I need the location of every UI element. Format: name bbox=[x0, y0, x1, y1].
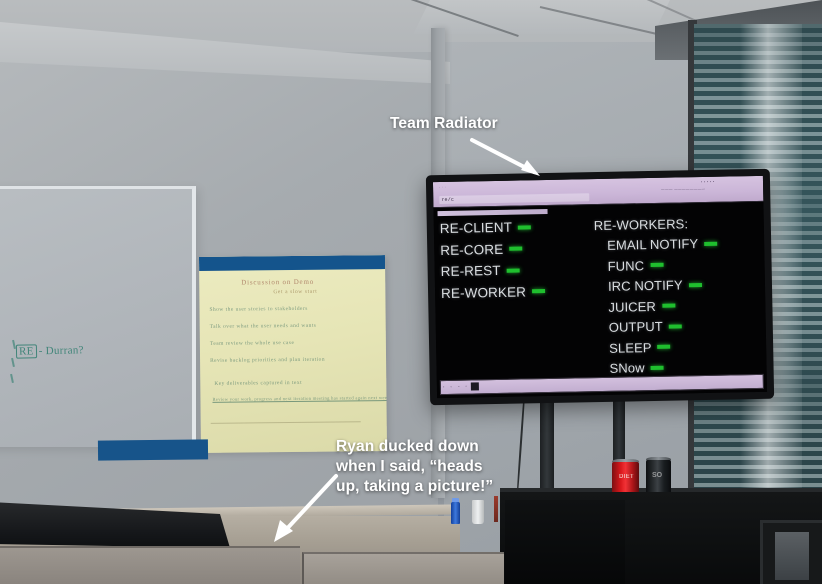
status-led-green bbox=[669, 324, 682, 328]
office-photo-scene: RE- Durran? Discussion on Demo Get a slo… bbox=[0, 0, 822, 584]
annotation-arrow-down-right bbox=[468, 136, 558, 184]
poster-bullet: Key deliverables captured in text bbox=[214, 380, 302, 387]
service-columns: RE-CLIENTRE-CORERE-RESTRE-WORKER RE-WORK… bbox=[434, 215, 767, 385]
service-status-row: OUTPUT bbox=[596, 317, 766, 335]
service-status-row: RE-WORKER bbox=[441, 283, 591, 301]
service-name: RE-WORKER bbox=[441, 284, 526, 301]
monitor-screen: · · · • • • • • ——— ———————— re/c RE-CLI… bbox=[433, 176, 767, 398]
status-led-green bbox=[689, 283, 702, 287]
service-group-heading: RE-WORKERS: bbox=[594, 215, 764, 233]
page-header-bar bbox=[438, 209, 548, 216]
browser-toolbar-dots[interactable]: • • • • • bbox=[701, 180, 715, 184]
poster-bullet: Show the user stories to stakeholders bbox=[210, 306, 308, 313]
service-status-row: FUNC bbox=[594, 255, 764, 273]
service-name: RE-WORKERS: bbox=[594, 216, 689, 233]
service-status-row: EMAIL NOTIFY bbox=[594, 235, 764, 253]
poster-bullet: Talk over what the user needs and wants bbox=[210, 323, 317, 330]
status-led-green bbox=[704, 241, 717, 245]
taskbar-items[interactable]: ▫ ▫ ▫ ▫ bbox=[443, 384, 470, 390]
cubicle-panel bbox=[0, 546, 300, 584]
cubicle-panel bbox=[302, 552, 504, 584]
poster-footer: Review your work, progress and next iter… bbox=[212, 395, 387, 402]
poster-bullet: Team review the whole use case bbox=[210, 340, 295, 347]
annotation-ryan-line1: Ryan ducked down bbox=[336, 437, 493, 457]
service-name: RE-CORE bbox=[440, 241, 503, 257]
browser-url-text: re/c bbox=[441, 197, 454, 203]
red-can-label: DIET bbox=[619, 474, 634, 480]
status-led-green bbox=[509, 246, 522, 250]
annotation-ryan-line2: when I said, “heads bbox=[336, 457, 493, 477]
service-name: OUTPUT bbox=[609, 319, 663, 335]
whiteboard-note-box: RE bbox=[16, 344, 37, 358]
status-led-green bbox=[651, 365, 664, 369]
service-name: SLEEP bbox=[609, 340, 652, 356]
equipment-box bbox=[505, 500, 625, 584]
service-list-left: RE-CLIENTRE-CORERE-RESTRE-WORKER bbox=[434, 218, 593, 384]
annotation-arrow-down-left bbox=[262, 472, 346, 552]
radiator-page: RE-CLIENTRE-CORERE-RESTRE-WORKER RE-WORK… bbox=[433, 202, 767, 398]
whiteboard bbox=[0, 186, 196, 447]
status-led-green bbox=[662, 304, 675, 308]
status-led-green bbox=[650, 263, 663, 267]
annotation-team-radiator: Team Radiator bbox=[390, 114, 498, 134]
annotation-ryan-line3: up, taking a picture!” bbox=[336, 477, 493, 497]
poster-bullet: Revise backlog priorities and plan itera… bbox=[210, 357, 325, 364]
browser-address-hint: ——— ———————— bbox=[661, 187, 705, 192]
service-status-row: RE-CLIENT bbox=[440, 218, 590, 236]
wall-mounted-monitor[interactable]: · · · • • • • • ——— ———————— re/c RE-CLI… bbox=[426, 169, 774, 406]
service-status-row: RE-REST bbox=[441, 261, 591, 279]
service-name: FUNC bbox=[607, 258, 644, 274]
poster-subtitle: Get a slow start bbox=[273, 289, 317, 295]
status-led-green bbox=[532, 289, 545, 293]
whiteboard-note-text: - Durran? bbox=[39, 344, 84, 357]
poster-header-band bbox=[199, 255, 385, 271]
service-name: RE-CLIENT bbox=[440, 220, 512, 236]
blue-bottle bbox=[451, 502, 460, 524]
service-status-row: IRC NOTIFY bbox=[595, 276, 765, 294]
poster-footer-band bbox=[98, 439, 208, 460]
browser-tab-label[interactable]: · · · bbox=[439, 185, 447, 189]
annotation-ryan-caption: Ryan ducked down when I said, “heads up,… bbox=[336, 437, 493, 496]
browser-url-bar[interactable] bbox=[439, 193, 589, 204]
taskbar-active-window[interactable] bbox=[471, 382, 479, 390]
pen bbox=[494, 496, 498, 522]
status-led-green bbox=[658, 345, 671, 349]
service-status-row: SLEEP bbox=[596, 337, 766, 355]
flipchart-poster: Discussion on Demo Get a slow start Show… bbox=[199, 255, 387, 453]
status-led-green bbox=[518, 225, 531, 229]
service-name: EMAIL NOTIFY bbox=[607, 236, 698, 253]
service-name: RE-REST bbox=[441, 263, 501, 279]
dark-can-label: SO bbox=[652, 472, 662, 479]
paper-cup bbox=[472, 500, 484, 524]
status-led-green bbox=[507, 268, 520, 272]
service-list-right: RE-WORKERS:EMAIL NOTIFYFUNCIRC NOTIFYJUI… bbox=[590, 215, 767, 382]
service-status-row: RE-CORE bbox=[440, 240, 590, 258]
poster-title: Discussion on Demo bbox=[241, 278, 314, 287]
whiteboard-note: RE- Durran? bbox=[16, 344, 84, 357]
service-name: IRC NOTIFY bbox=[608, 277, 683, 293]
service-status-row: JUICER bbox=[595, 296, 765, 314]
service-name: SNow bbox=[609, 360, 644, 376]
service-name: JUICER bbox=[608, 298, 656, 314]
dark-equipment-panel bbox=[775, 532, 809, 580]
